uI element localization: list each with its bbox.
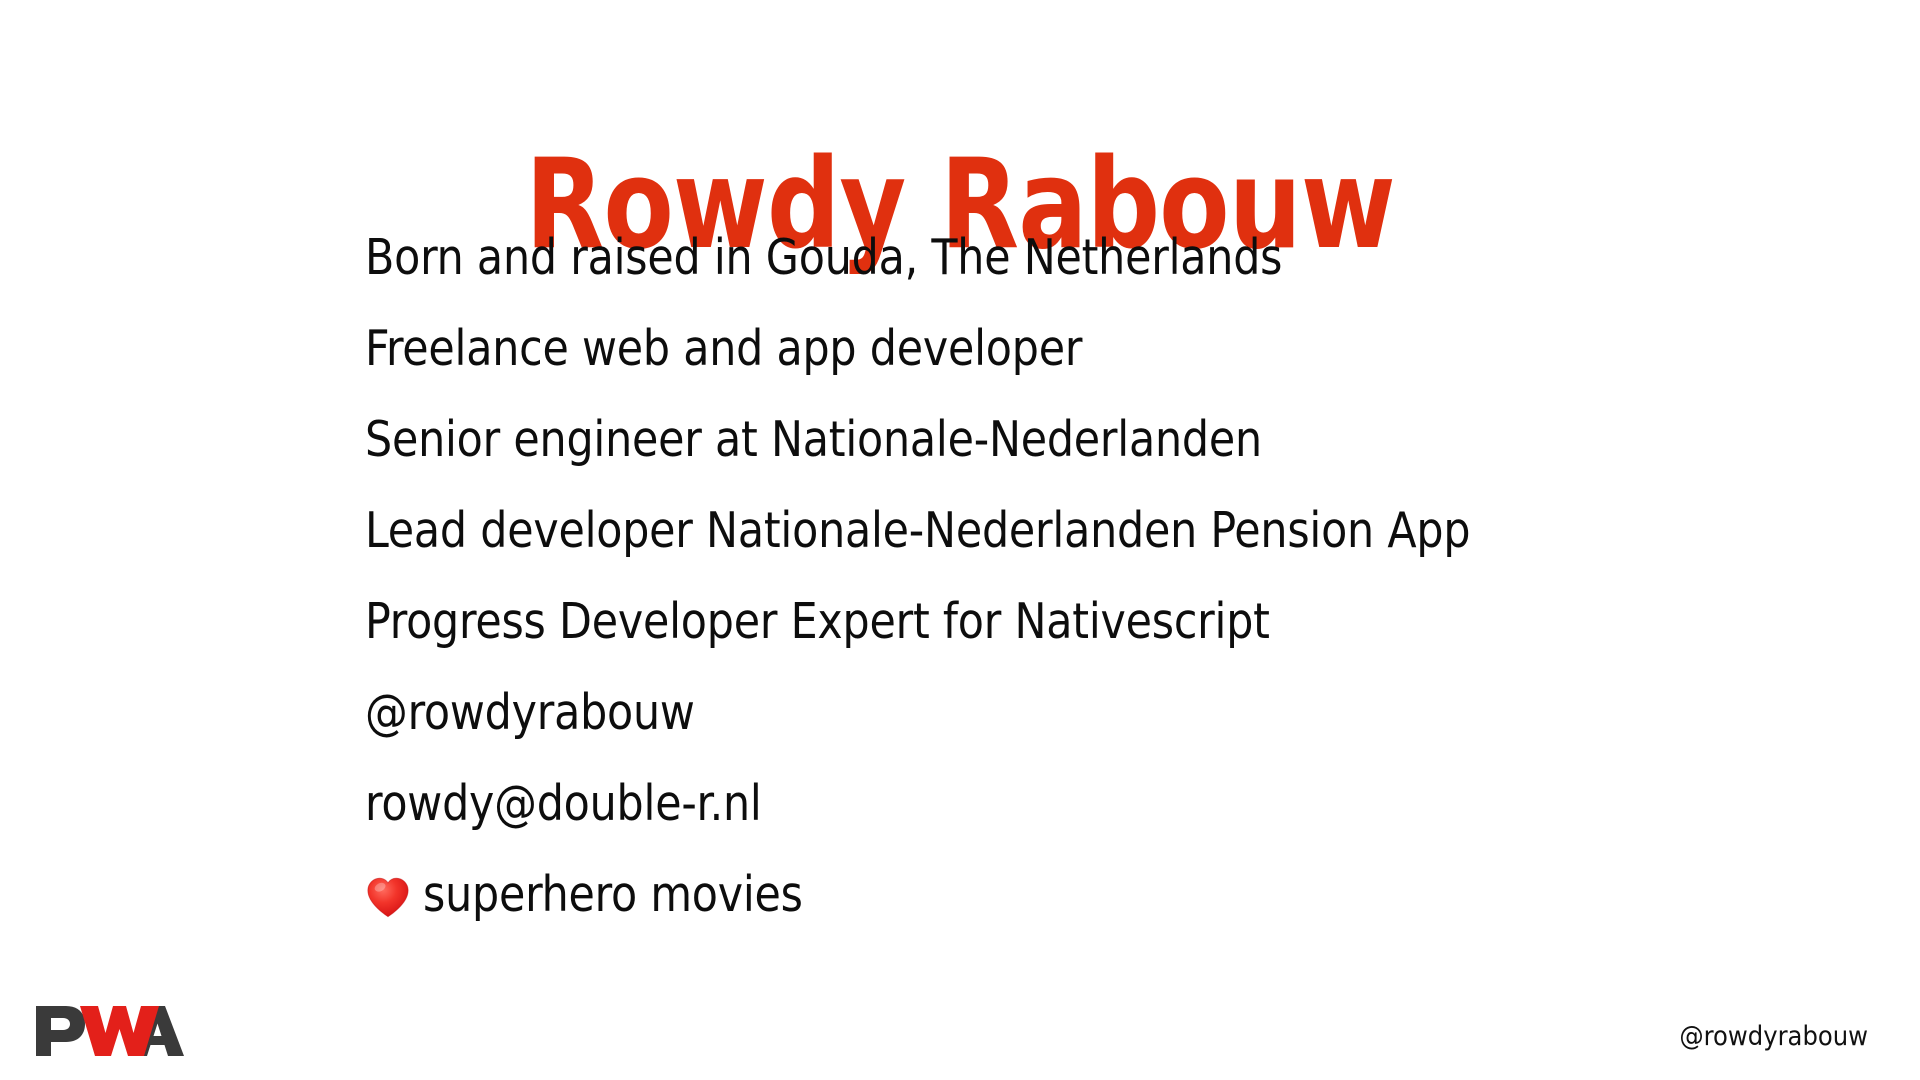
list-item-twitter-handle: @rowdyrabouw bbox=[365, 683, 1665, 774]
pwa-logo bbox=[32, 1000, 184, 1062]
list-item-label: Progress Developer Expert for Nativescri… bbox=[365, 592, 1270, 652]
pwa-logo-letter-p bbox=[36, 1006, 85, 1056]
list-item-label: Lead developer Nationale-Nederlanden Pen… bbox=[365, 501, 1470, 561]
list-item: Progress Developer Expert for Nativescri… bbox=[365, 592, 1665, 683]
list-item-label: Freelance web and app developer bbox=[365, 319, 1082, 379]
list-item-label: rowdy@double-r.nl bbox=[365, 774, 762, 834]
list-item: Senior engineer at Nationale-Nederlanden bbox=[365, 410, 1665, 501]
list-item-label: Born and raised in Gouda, The Netherland… bbox=[365, 228, 1282, 288]
list-item: Freelance web and app developer bbox=[365, 319, 1665, 410]
list-item-label: Senior engineer at Nationale-Nederlanden bbox=[365, 410, 1262, 470]
list-item-loves: superhero movies bbox=[365, 865, 1665, 956]
list-item-label: superhero movies bbox=[423, 865, 803, 925]
footer-handle: @rowdyrabouw bbox=[1679, 1020, 1868, 1054]
red-heart-icon bbox=[365, 875, 411, 921]
list-item-label: @rowdyrabouw bbox=[365, 683, 695, 743]
list-item-email: rowdy@double-r.nl bbox=[365, 774, 1665, 865]
list-item: Lead developer Nationale-Nederlanden Pen… bbox=[365, 501, 1665, 592]
slide-root: Rowdy Rabouw Born and raised in Gouda, T… bbox=[0, 0, 1920, 1080]
bio-bullet-list: Born and raised in Gouda, The Netherland… bbox=[365, 228, 1665, 956]
list-item: Born and raised in Gouda, The Netherland… bbox=[365, 228, 1665, 319]
